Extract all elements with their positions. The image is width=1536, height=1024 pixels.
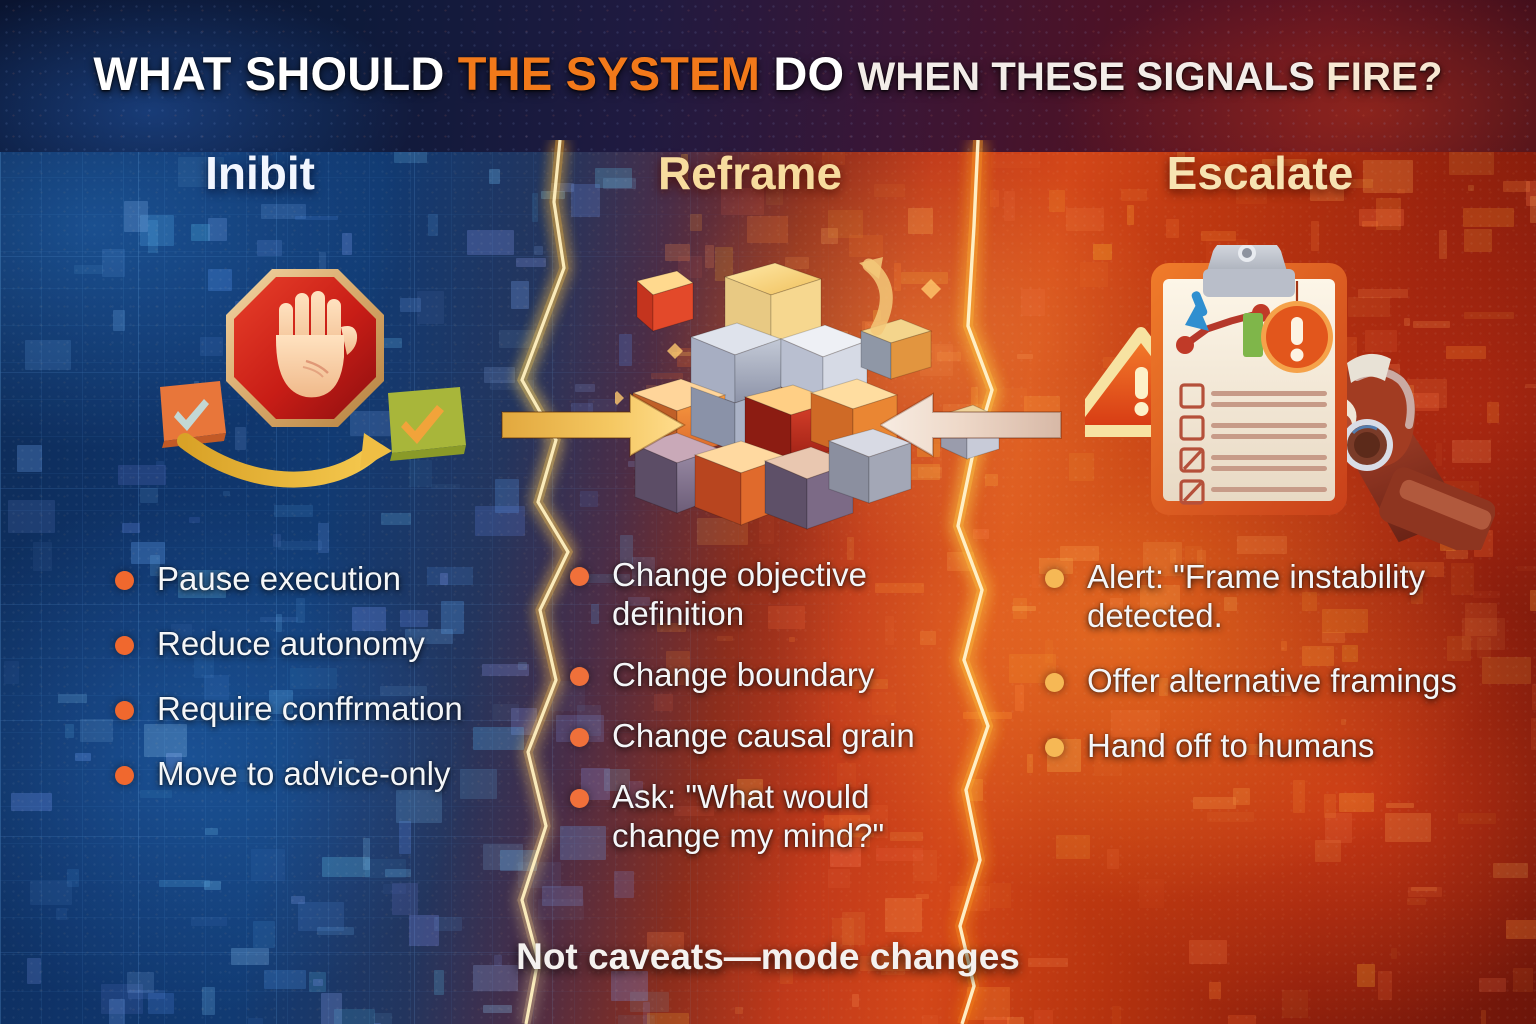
column-heading-escalate: Escalate xyxy=(1010,150,1510,196)
bullet-dot xyxy=(570,567,589,586)
list-item-label: Offer alternative framings xyxy=(1087,662,1457,699)
bullet-dot xyxy=(115,766,134,785)
robot-hand-clipboard-icon xyxy=(1085,245,1495,550)
bullet-list-inhibit: Pause execution Reduce autonomy Require … xyxy=(115,560,535,820)
bullet-dot xyxy=(115,636,134,655)
page-title: WHAT SHOULD THE SYSTEM DO WHEN THESE SIG… xyxy=(0,50,1536,97)
list-item: Pause execution xyxy=(115,560,535,599)
column-heading-reframe: Reframe xyxy=(540,150,960,196)
list-item: Offer alternative framings xyxy=(1045,662,1515,701)
footer-caption: Not caveats—mode changes xyxy=(0,936,1536,978)
bullet-list-escalate: Alert: "Frame instability detected. Offe… xyxy=(1045,558,1515,792)
list-item: Ask: "What would change my mind?" xyxy=(570,778,970,856)
bullet-list-reframe: Change objective definition Change bound… xyxy=(570,556,970,878)
column-inhibit: Inibit xyxy=(40,150,480,196)
list-item: Hand off to humans xyxy=(1045,727,1515,766)
stop-hand-sign-icon xyxy=(140,255,470,510)
list-item-label: Hand off to humans xyxy=(1087,727,1374,764)
bullet-dot xyxy=(1045,569,1064,588)
list-item-label: Require conffrmation xyxy=(157,690,463,727)
list-item-label: Alert: "Frame instability detected. xyxy=(1087,558,1425,634)
column-heading-inhibit: Inibit xyxy=(40,150,480,196)
list-item-label: Pause execution xyxy=(157,560,401,597)
green-task-card xyxy=(388,387,466,461)
column-reframe: Reframe xyxy=(540,150,960,196)
page-title-part-5: FIRE? xyxy=(1326,55,1443,99)
bullet-dot xyxy=(115,701,134,720)
list-item: Reduce autonomy xyxy=(115,625,535,664)
list-item-label: Change boundary xyxy=(612,656,874,693)
bullet-dot xyxy=(1045,673,1064,692)
list-item: Move to advice-only xyxy=(115,755,535,794)
bullet-dot xyxy=(115,571,134,590)
list-item: Change objective definition xyxy=(570,556,970,634)
page-title-part-3: DO xyxy=(773,47,857,100)
bullet-dot xyxy=(1045,738,1064,757)
list-item-label: Change objective definition xyxy=(612,556,867,632)
page-title-part-2: THE SYSTEM xyxy=(458,47,774,100)
arrow-left-escalate-to-reframe xyxy=(880,388,1065,462)
page-title-part-1: WHAT SHOULD xyxy=(93,47,457,100)
floating-cube-left xyxy=(637,271,693,331)
list-item: Change causal grain xyxy=(570,717,970,756)
list-item-label: Change causal grain xyxy=(612,717,915,754)
infographic-canvas: WHAT SHOULD THE SYSTEM DO WHEN THESE SIG… xyxy=(0,0,1536,1024)
list-item: Alert: "Frame instability detected. xyxy=(1045,558,1515,636)
column-escalate: Escalate xyxy=(1010,150,1510,196)
list-item: Require conffrmation xyxy=(115,690,535,729)
clipboard xyxy=(1151,245,1347,515)
stop-sign-octagon xyxy=(226,269,384,427)
bullet-dot xyxy=(570,789,589,808)
list-item-label: Move to advice-only xyxy=(157,755,450,792)
page-title-part-4: WHEN THESE SIGNALS xyxy=(858,55,1327,99)
list-item: Change boundary xyxy=(570,656,970,695)
list-item-label: Ask: "What would change my mind?" xyxy=(612,778,884,854)
bullet-dot xyxy=(570,728,589,747)
bullet-dot xyxy=(570,667,589,686)
arrow-right-inhibit-to-reframe xyxy=(498,388,688,462)
list-item-label: Reduce autonomy xyxy=(157,625,425,662)
